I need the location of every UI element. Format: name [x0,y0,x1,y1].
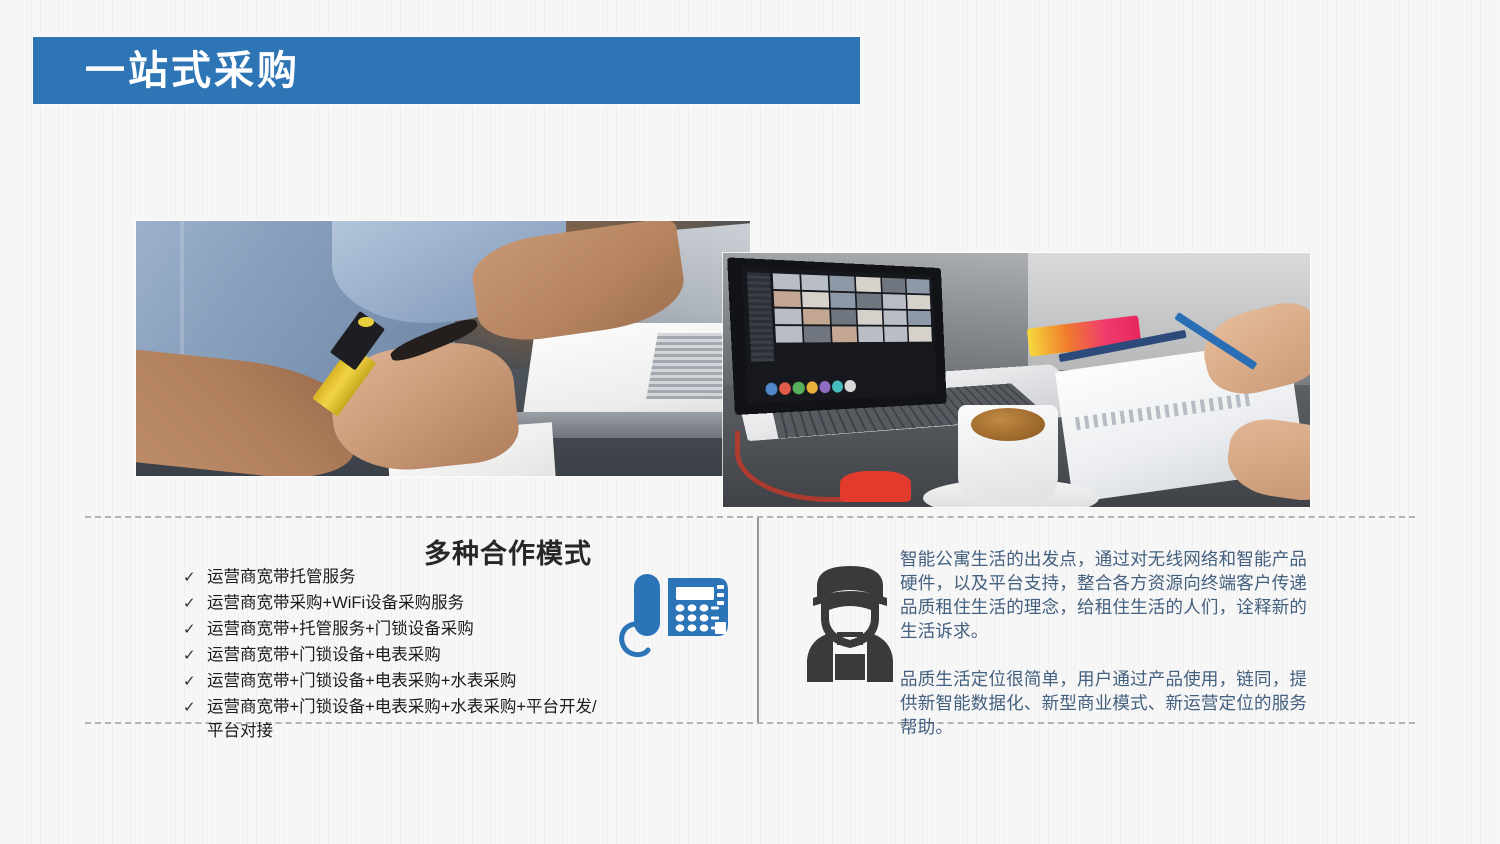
check-icon: ✓ [183,618,196,642]
check-icon: ✓ [183,644,196,668]
list-item: ✓ 运营商宽带+门锁设备+电表采购 [183,644,613,668]
photo2-laptop-screen [727,257,947,415]
photo2-macos-dock [765,378,889,398]
list-item-label: 运营商宽带+门锁设备+电表采购+水表采购+平台开发/平台对接 [207,698,597,740]
photo2-video-thumbnails [772,273,931,343]
intro-paragraph-2: 品质生活定位很简单，用户通过产品使用，链同，提供新智能数据化、新型商业模式、新运… [900,667,1320,739]
list-item-label: 运营商宽带+门锁设备+电表采购+水表采购 [207,672,516,690]
check-icon: ✓ [183,592,196,616]
slide-canvas: 一站式采购 [0,0,1500,844]
list-item: ✓ 运营商宽带+门锁设备+电表采购+水表采购+平台开发/平台对接 [183,696,613,743]
list-item-label: 运营商宽带托管服务 [207,568,356,586]
photo-laptop-coffee [723,253,1310,507]
list-item-label: 运营商宽带+门锁设备+电表采购 [207,646,441,664]
list-item-label: 运营商宽带采购+WiFi设备采购服务 [207,594,464,612]
desk-phone-icon [618,568,742,664]
check-icon: ✓ [183,566,196,590]
page-title: 一站式采购 [85,51,300,91]
list-item: ✓ 运营商宽带采购+WiFi设备采购服务 [183,592,613,616]
check-icon: ✓ [183,670,196,694]
photo2-coffee-crema [971,408,1045,441]
worker-avatar-icon [795,556,905,686]
intro-paragraph-1: 智能公寓生活的出发点，通过对无线网络和智能产品硬件，以及平台支持，整合各方资源向… [900,547,1320,643]
photo2-editor-sidebar [747,272,775,362]
list-item: ✓ 运营商宽带+托管服务+门锁设备采购 [183,618,613,642]
divider-top-dashed [85,516,1415,518]
cooperation-modes-list: ✓ 运营商宽带托管服务 ✓ 运营商宽带采购+WiFi设备采购服务 ✓ 运营商宽带… [183,566,613,746]
title-banner: 一站式采购 [33,37,860,104]
photo2-screen-content [742,268,937,404]
list-item-label: 运营商宽带+托管服务+门锁设备采购 [207,620,474,638]
photo2-red-object [840,471,910,501]
photo1-pen-top [358,317,374,327]
list-item: ✓ 运营商宽带托管服务 [183,566,613,590]
list-item: ✓ 运营商宽带+门锁设备+电表采购+水表采购 [183,670,613,694]
check-icon: ✓ [183,696,196,720]
photo-man-writing [136,221,750,476]
intro-copy: 智能公寓生活的出发点，通过对无线网络和智能产品硬件，以及平台支持，整合各方资源向… [900,547,1320,739]
divider-vertical [757,518,759,722]
